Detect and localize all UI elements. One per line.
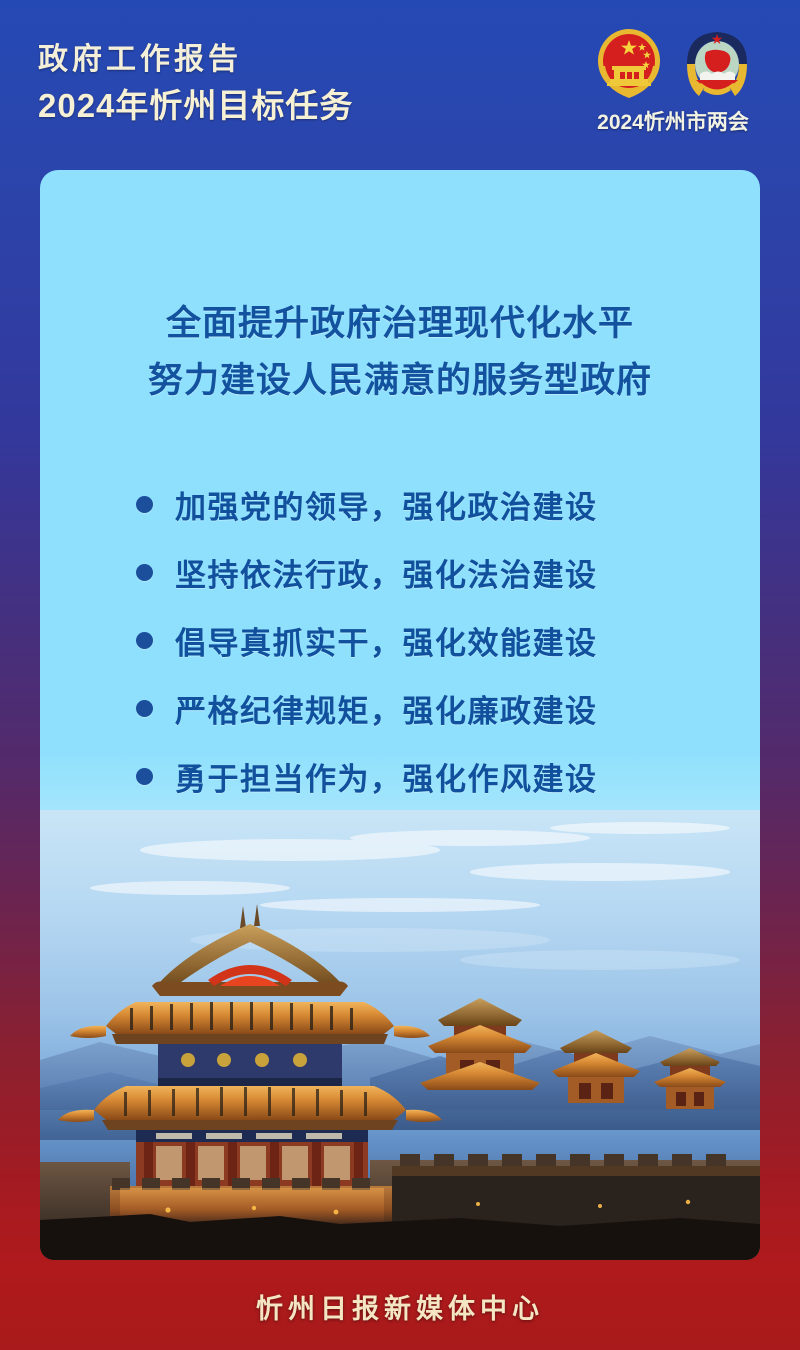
bullet-dot-icon — [136, 700, 153, 717]
bullet-list: 加强党的领导，强化政治建设 坚持依法行政，强化法治建设 倡导真抓实干，强化效能建… — [136, 470, 736, 810]
liang-hui-label: 2024忻州市两会 — [568, 106, 778, 136]
headline-line-1: 全面提升政府治理现代化水平 — [80, 295, 720, 352]
list-item: 倡导真抓实干，强化效能建设 — [136, 606, 736, 674]
list-item-label: 坚持依法行政，强化法治建设 — [175, 550, 598, 595]
poster-footer: 忻州日报新媒体中心 — [0, 1262, 800, 1350]
list-item-label: 倡导真抓实干，强化效能建设 — [175, 618, 598, 663]
report-title: 政府工作报告 — [38, 40, 353, 80]
list-item-label: 严格纪律规矩，强化廉政建设 — [175, 686, 598, 731]
card-headline: 全面提升政府治理现代化水平 努力建设人民满意的服务型政府 — [80, 295, 720, 409]
emblem-row — [568, 26, 778, 104]
content-card: 全面提升政府治理现代化水平 努力建设人民满意的服务型政府 加强党的领导，强化政治… — [40, 170, 760, 1260]
list-item: 勇于担当作为，强化作风建设 — [136, 742, 736, 810]
cppcc-emblem-icon — [680, 26, 754, 104]
list-item-label: 加强党的领导，强化政治建设 — [175, 482, 598, 527]
national-emblem-of-china-icon — [592, 26, 666, 104]
bullet-dot-icon — [136, 564, 153, 581]
list-item: 加强党的领导，强化政治建设 — [136, 470, 736, 538]
bullet-dot-icon — [136, 768, 153, 785]
list-item-label: 勇于担当作为，强化作风建设 — [175, 754, 598, 799]
header-title-block: 政府工作报告 2024年忻州目标任务 — [38, 40, 353, 128]
bullet-dot-icon — [136, 496, 153, 513]
xinzhou-ancient-city-photo — [40, 810, 760, 1260]
photo-illustration — [40, 810, 760, 1260]
footer-source-label: 忻州日报新媒体中心 — [256, 1287, 544, 1326]
poster-background: 政府工作报告 2024年忻州目标任务 — [0, 0, 800, 1350]
list-item: 严格纪律规矩，强化廉政建设 — [136, 674, 736, 742]
bullet-dot-icon — [136, 632, 153, 649]
headline-line-2: 努力建设人民满意的服务型政府 — [80, 352, 720, 409]
emblem-block: 2024忻州市两会 — [568, 26, 778, 136]
report-subtitle: 2024年忻州目标任务 — [38, 84, 353, 128]
poster-header: 政府工作报告 2024年忻州目标任务 — [0, 0, 800, 168]
list-item: 坚持依法行政，强化法治建设 — [136, 538, 736, 606]
